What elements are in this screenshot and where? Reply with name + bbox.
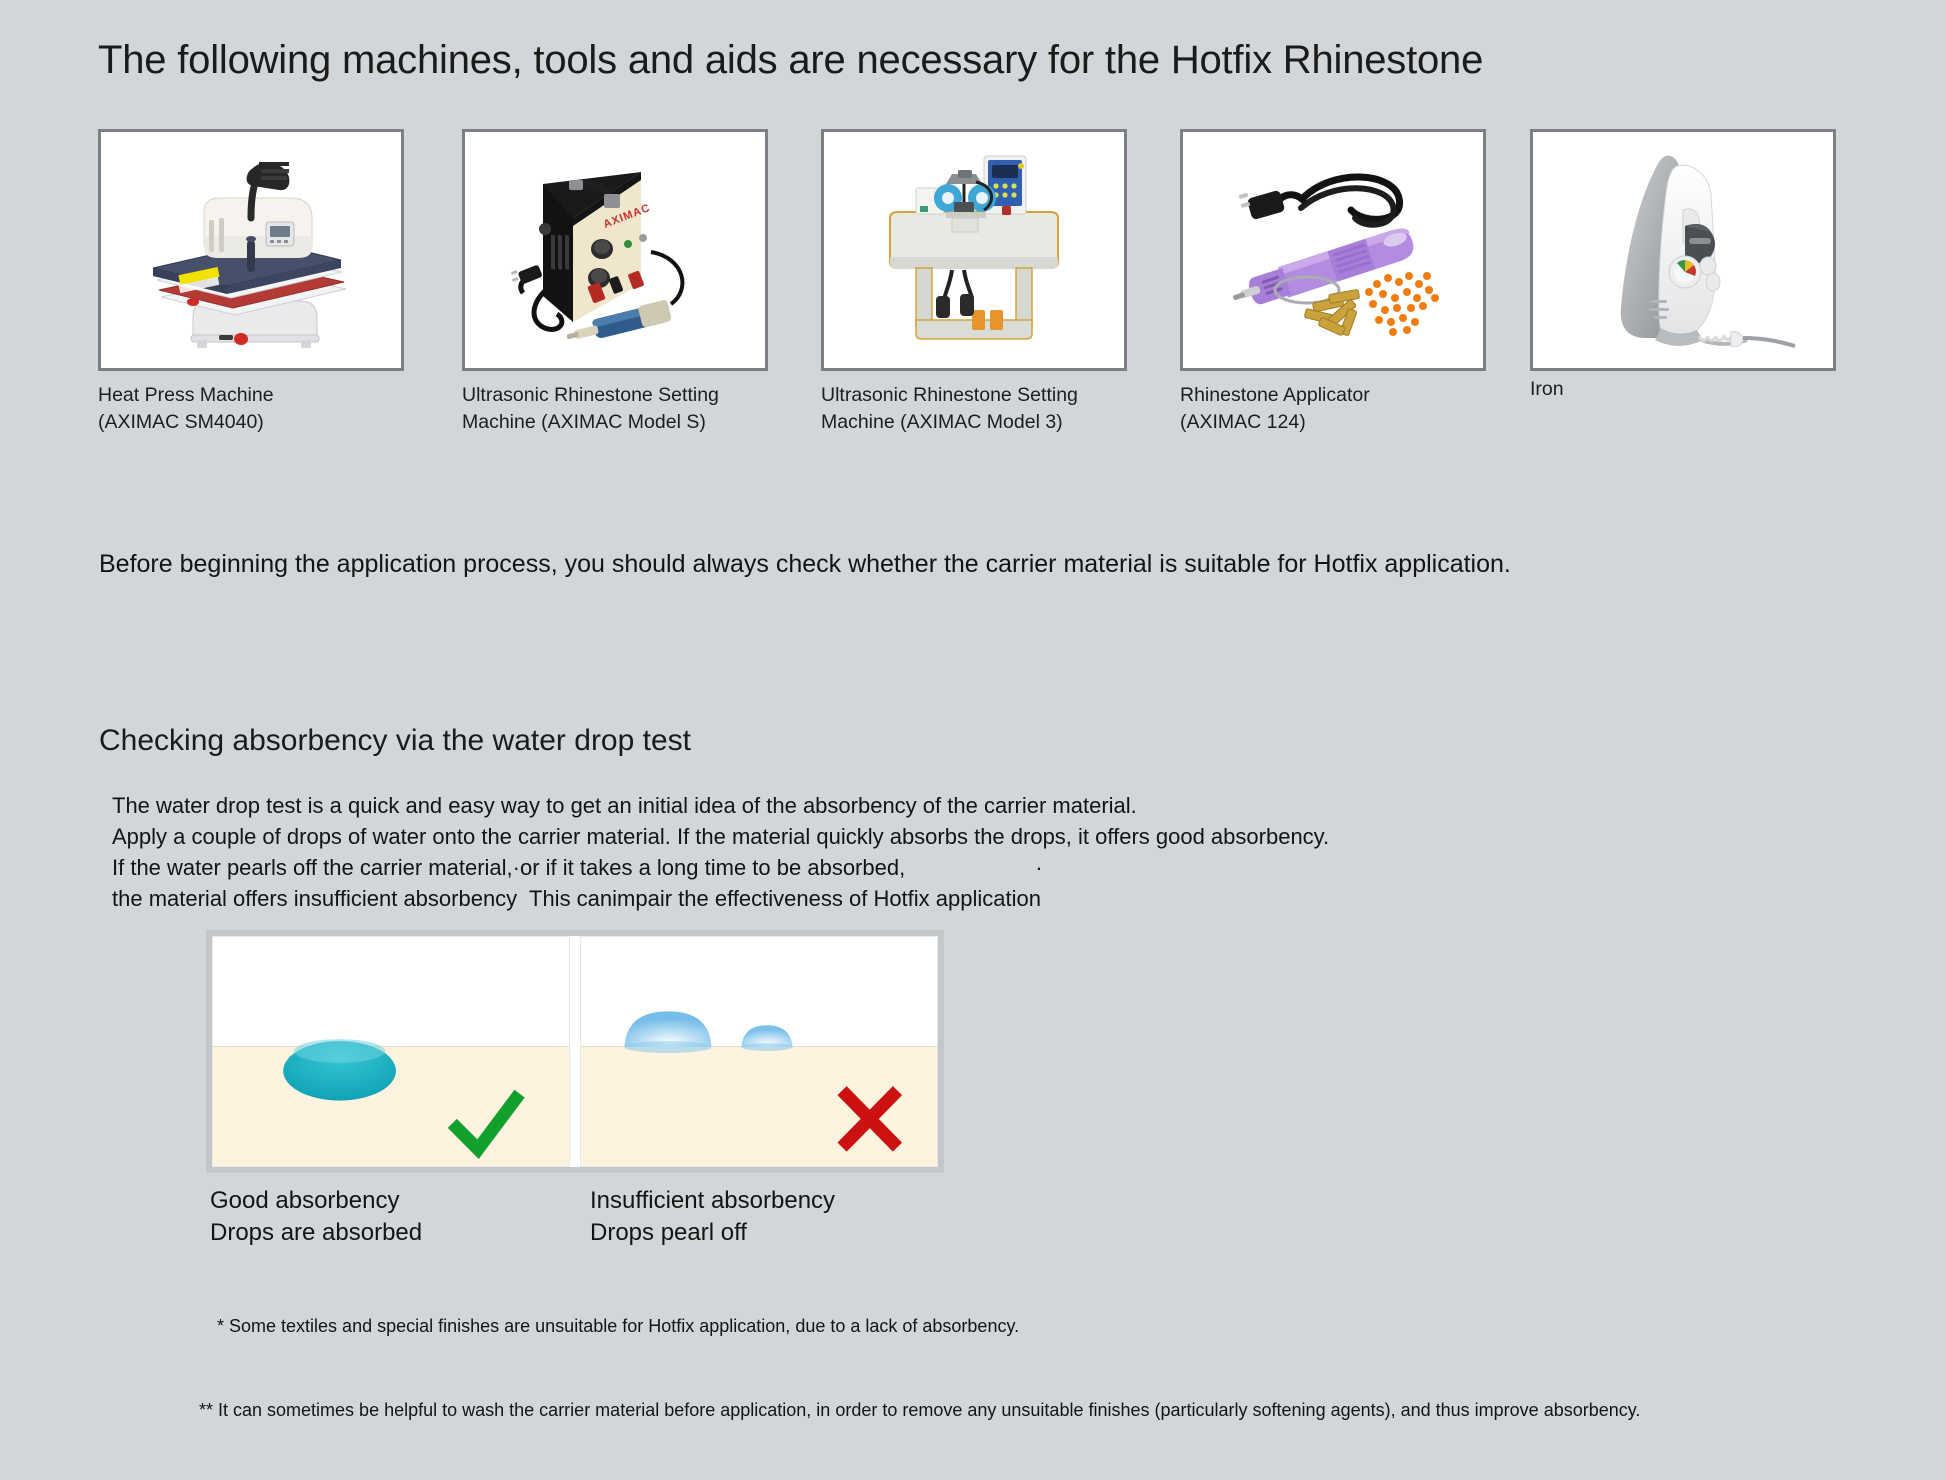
drop-panel-good-absorbency	[212, 936, 570, 1167]
product-item-iron[interactable]: Iron	[1530, 129, 1836, 403]
body-line-3: If the water pearls off the carrier mate…	[112, 852, 1329, 883]
pre-application-note: Before beginning the application process…	[99, 550, 1511, 579]
product-caption: Ultrasonic Rhinestone Setting Machine (A…	[821, 382, 1127, 436]
ultrasonic-setting-machine-model-3-photo	[821, 129, 1127, 371]
water-drop-test-figure	[206, 930, 944, 1173]
footnote-one: * Some textiles and special finishes are…	[199, 1312, 1640, 1340]
label-good-absorbency: Good absorbency Drops are absorbed	[210, 1185, 422, 1249]
footnote-two: ** It can sometimes be helpful to wash t…	[199, 1396, 1640, 1424]
document-page: The following machines, tools and aids a…	[0, 0, 1946, 1384]
drop-panels	[212, 936, 938, 1167]
drop-panel-insufficient-absorbency	[580, 936, 938, 1167]
body-line-3b: ·	[1035, 855, 1042, 880]
product-gallery: Heat Press Machine (AXIMAC SM4040)	[98, 129, 1858, 429]
product-caption: Ultrasonic Rhinestone Setting Machine (A…	[462, 382, 768, 436]
body-line-2: Apply a couple of drops of water onto th…	[112, 821, 1329, 852]
body-line-3a: If the water pearls off the carrier mate…	[112, 855, 905, 880]
product-caption: Rhinestone Applicator (AXIMAC 124)	[1180, 382, 1486, 436]
label-insufficient-absorbency: Insufficient absorbency Drops pearl off	[590, 1185, 835, 1249]
section-title-absorbency: Checking absorbency via the water drop t…	[99, 724, 691, 758]
heat-press-machine-photo	[98, 129, 404, 371]
ultrasonic-setting-machine-model-s-photo: AXIMAC	[462, 129, 768, 371]
product-item-ultrasonic-model-s[interactable]: AXIMAC	[462, 129, 768, 436]
page-title: The following machines, tools and aids a…	[98, 38, 1483, 83]
product-caption: Iron	[1530, 376, 1836, 403]
absorbency-description: The water drop test is a quick and easy …	[112, 790, 1329, 914]
product-item-heat-press[interactable]: Heat Press Machine (AXIMAC SM4040)	[98, 129, 404, 436]
body-line-4: the material offers insufficient absorbe…	[112, 883, 1329, 914]
product-item-ultrasonic-model-3[interactable]: Ultrasonic Rhinestone Setting Machine (A…	[821, 129, 1127, 436]
product-caption: Heat Press Machine (AXIMAC SM4040)	[98, 382, 404, 436]
product-item-rhinestone-applicator[interactable]: Rhinestone Applicator (AXIMAC 124)	[1180, 129, 1486, 436]
body-line-1: The water drop test is a quick and easy …	[112, 790, 1329, 821]
rhinestone-applicator-photo	[1180, 129, 1486, 371]
footnotes: * Some textiles and special finishes are…	[199, 1256, 1640, 1480]
iron-photo	[1530, 129, 1836, 371]
